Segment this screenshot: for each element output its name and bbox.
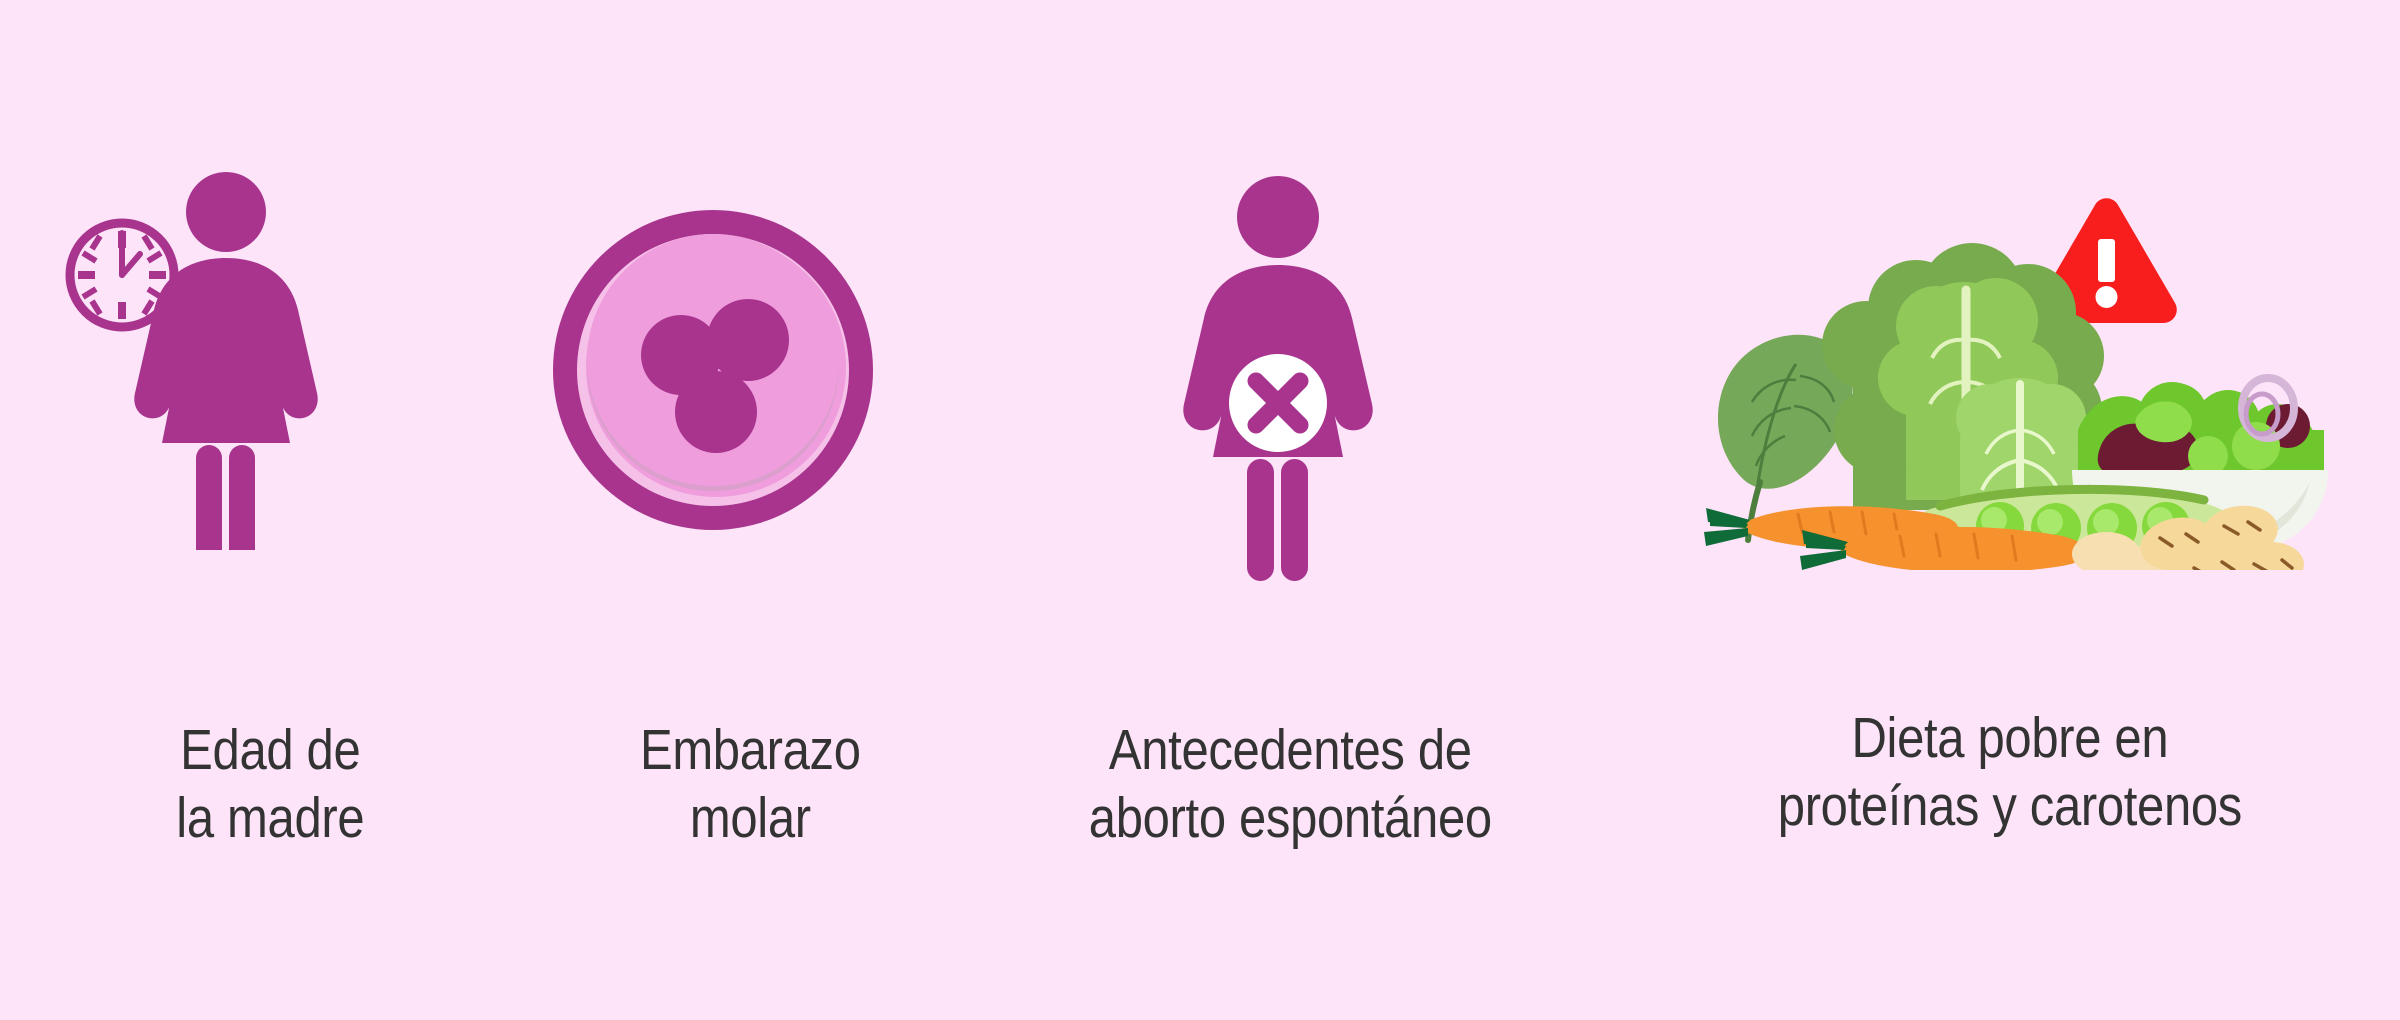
salad-greens	[2078, 378, 2324, 478]
risk-factor-molar-pregnancy: Embarazo molar	[540, 0, 960, 1020]
risk-factors-infographic: Edad de la madre Embarazo mola	[0, 0, 2400, 1020]
risk-factor-label-molar-pregnancy: Embarazo molar	[640, 716, 861, 853]
woman-figure-icon	[134, 172, 317, 550]
risk-factor-row: Edad de la madre Embarazo mola	[0, 0, 2400, 1020]
clock-and-woman-icon	[30, 150, 330, 550]
risk-factor-label-maternal-age: Edad de la madre	[176, 716, 364, 853]
carrot-top-leaves	[1704, 508, 1750, 546]
pregnant-woman-with-cross-icon	[1048, 155, 1508, 595]
risk-factor-maternal-age: Edad de la madre	[0, 0, 540, 1020]
icon-stage-molar-pregnancy	[540, 0, 960, 700]
risk-factor-label-abortion-history: Antecedentes de aborto espontáneo	[1088, 716, 1491, 853]
icon-stage-poor-diet	[1620, 0, 2400, 700]
risk-factor-poor-diet: Dieta pobre en proteínas y carotenos	[1620, 0, 2400, 1020]
molar-cell-icon	[548, 200, 878, 540]
cross-badge-icon	[1229, 354, 1327, 452]
vegetables-with-warning-icon	[1648, 130, 2388, 570]
icon-stage-abortion-history	[960, 0, 1620, 700]
icon-stage-maternal-age	[0, 0, 540, 700]
risk-factor-label-poor-diet: Dieta pobre en proteínas y carotenos	[1778, 704, 2242, 841]
risk-factor-abortion-history: Antecedentes de aborto espontáneo	[960, 0, 1620, 1020]
